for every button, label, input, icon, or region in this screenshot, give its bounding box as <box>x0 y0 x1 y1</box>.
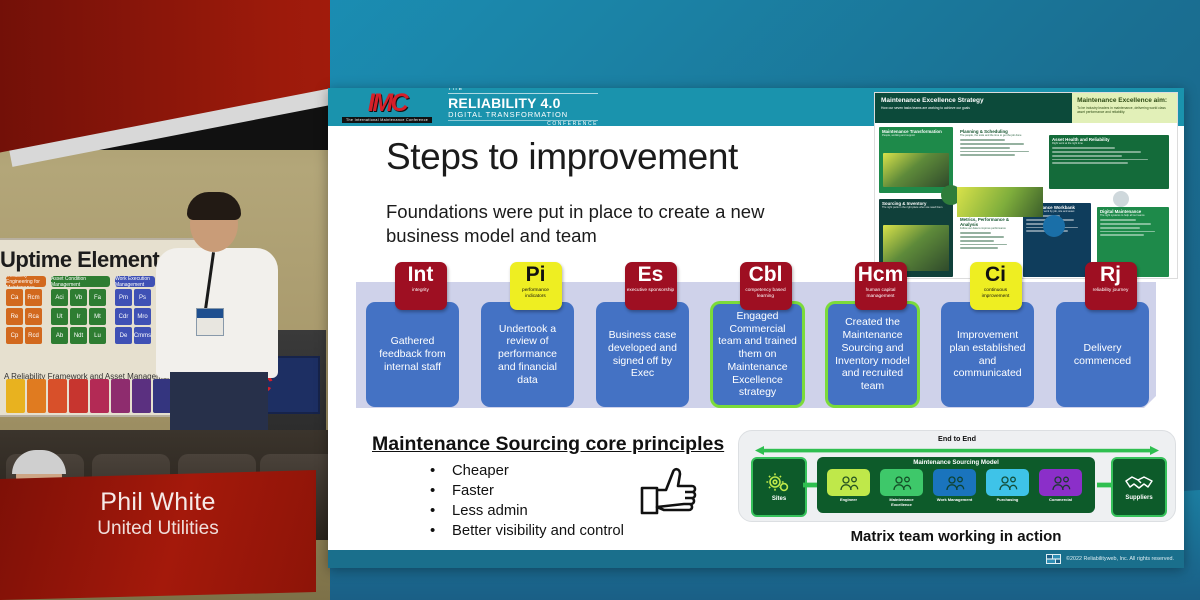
poster-element-cell: Ut <box>51 308 68 325</box>
model-role-label: Purchasing <box>986 498 1029 503</box>
poster-title: Uptime Elements <box>0 247 171 273</box>
conference-name: RELIABILITY 4.0 <box>448 96 598 110</box>
poster-element-cell: Mt <box>89 308 106 325</box>
collage-photo-circle <box>1043 215 1065 237</box>
step-card-text: Created the Maintenance Sourcing and Inv… <box>833 316 912 393</box>
people-icon <box>827 469 870 496</box>
poster-element-cell: Re <box>6 308 23 325</box>
conference-branding: THE RELIABILITY 4.0 DIGITAL TRANSFORMATI… <box>448 88 598 127</box>
element-abbreviation: Rj <box>1100 264 1121 285</box>
handshake-icon <box>1125 474 1153 492</box>
collage-tile-subtitle: Follow our data to improve performance <box>957 227 1019 230</box>
end-to-end-label: End to End <box>739 434 1175 443</box>
poster-element-cell: Ca <box>6 289 23 306</box>
collage-aim-text: To be industry leaders in maintenance, d… <box>1077 106 1172 114</box>
poster-element-cell: Rcm <box>25 289 42 306</box>
speaker-badge <box>196 308 224 336</box>
principle-item: Better visibility and control <box>406 522 624 542</box>
element-full-name: executive sponsorship <box>625 288 676 294</box>
slide-subtitle: Foundations were put in place to create … <box>386 200 816 247</box>
poster-element-cell: Rca <box>25 308 42 325</box>
principle-item: Less admin <box>406 502 624 522</box>
maintenance-excellence-strategy-poster: Maintenance Excellence Strategy How our … <box>874 92 1178 279</box>
collage-tile-subtitle: The right systems to help all our teams <box>1097 214 1169 217</box>
principle-item: Faster <box>406 482 624 502</box>
poster-element-cell: Rcd <box>25 327 42 344</box>
poster-lifecycle-cell <box>48 379 67 413</box>
poster-element-grid: Reliability Engineering for MaintenanceC… <box>6 276 181 344</box>
step-card[interactable]: Created the Maintenance Sourcing and Inv… <box>826 302 919 407</box>
element-abbreviation: Pi <box>526 264 546 285</box>
element-abbreviation: Cbl <box>749 264 783 285</box>
uptime-element-badge[interactable]: Esexecutive sponsorship <box>625 262 677 310</box>
uptime-element-badge[interactable]: Piperformance indicators <box>510 262 562 310</box>
collage-tile: Maintenance TransformationPeople, workin… <box>879 127 953 193</box>
step-card-text: Undertook a review of performance and fi… <box>488 323 567 387</box>
uptime-element-badge[interactable]: Intintegrity <box>395 262 447 310</box>
element-full-name: integrity <box>410 288 431 294</box>
model-role-label: Engineer <box>827 498 870 503</box>
step-card-text: Gathered feedback from internal staff <box>373 335 452 373</box>
element-full-name: competency based learning <box>740 288 792 299</box>
speaker-organization: United Utilities <box>0 518 316 540</box>
people-icon <box>933 469 976 496</box>
imc-logo: IMC The International Maintenance Confer… <box>342 91 432 123</box>
poster-lifecycle-cell <box>90 379 109 413</box>
poster-element-group: Reliability Engineering for MaintenanceC… <box>6 276 46 344</box>
end-to-end-arrow-icon <box>755 446 1159 455</box>
poster-element-cell: Pm <box>115 289 132 306</box>
collage-tile-photo <box>883 153 949 187</box>
conference-subtitle: DIGITAL TRANSFORMATION <box>448 111 598 119</box>
model-role[interactable]: Commercial <box>1039 469 1082 503</box>
collage-tile: Asset Health and ReliabilityRight work a… <box>1049 135 1169 189</box>
collage-tile-title: Digital Maintenance <box>1097 207 1169 214</box>
model-end-label: Suppliers <box>1125 495 1152 501</box>
model-role[interactable]: Maintenance Excellence <box>880 469 923 508</box>
collage-aim: Maintenance Excellence aim: To be indust… <box>1072 93 1177 123</box>
poster-element-cell: Vb <box>70 289 87 306</box>
poster-lifecycle-cell <box>69 379 88 413</box>
element-abbreviation: Int <box>408 264 434 285</box>
collage-header: Maintenance Excellence Strategy How our … <box>875 93 1177 123</box>
people-icon <box>880 469 923 496</box>
poster-lifecycle-cell <box>132 379 151 413</box>
step-card[interactable]: Business case developed and signed off b… <box>596 302 689 407</box>
element-full-name: reliability journey <box>1091 288 1131 294</box>
poster-element-group: Asset Condition ManagementAciVbFaUtIrMtA… <box>51 276 110 344</box>
element-full-name: continuous improvement <box>970 288 1022 299</box>
speaker-name: Phil White <box>0 488 316 517</box>
element-abbreviation: Es <box>638 264 664 285</box>
uptime-element-badge[interactable]: Hcmhuman capital management <box>855 262 907 310</box>
maintenance-sourcing-model-diagram: End to End Sites Maintenance Sourcing Mo… <box>738 430 1176 522</box>
copyright-text: ©2022 Reliabilityweb, Inc. All rights re… <box>1066 556 1174 562</box>
poster-element-cell: Ir <box>70 308 87 325</box>
poster-element-cell: De <box>115 327 132 344</box>
uptime-element-badge[interactable]: Cicontinuous improvement <box>970 262 1022 310</box>
element-full-name: performance indicators <box>510 288 562 299</box>
element-abbreviation: Hcm <box>858 264 904 285</box>
step-card[interactable]: Engaged Commercial team and trained them… <box>711 302 804 407</box>
model-role-label: Commercial <box>1039 498 1082 503</box>
slide-title: Steps to improvement <box>386 136 738 178</box>
model-role[interactable]: Engineer <box>827 469 870 503</box>
matrix-caption: Matrix team working in action <box>738 528 1174 545</box>
collage-tile-lines <box>1049 145 1169 168</box>
poster-element-group: Work Execution ManagementPmPsCdrMroDeCmm… <box>115 276 155 344</box>
step-card-text: Business case developed and signed off b… <box>603 329 682 380</box>
collage-tile-title: Maintenance Transformation <box>879 127 953 134</box>
collage-tile-lines <box>957 137 1045 160</box>
collage-photo-circle <box>1113 191 1129 207</box>
poster-element-cell: Fa <box>89 289 106 306</box>
poster-element-cell: Cdr <box>115 308 132 325</box>
principles-list: CheaperFasterLess adminBetter visibility… <box>406 462 624 542</box>
model-start-sites: Sites <box>751 457 807 517</box>
poster-group-header: Work Execution Management <box>115 276 155 287</box>
model-end-suppliers: Suppliers <box>1111 457 1167 517</box>
model-role-label: Work Management <box>933 498 976 503</box>
msm-title: Maintenance Sourcing Model <box>817 459 1095 466</box>
poster-lifecycle-cell <box>111 379 130 413</box>
collage-tile-subtitle: People, working and support <box>879 134 953 137</box>
collage-tile-title: Asset Health and Reliability <box>1049 135 1169 142</box>
poster-lifecycle-cell <box>27 379 46 413</box>
collage-tile-subtitle: Right work at the right time <box>1049 142 1169 145</box>
principle-item: Cheaper <box>406 462 624 482</box>
uptime-element-badge[interactable]: Rjreliability journey <box>1085 262 1137 310</box>
poster-element-cell: Aci <box>51 289 68 306</box>
collage-aim-title: Maintenance Excellence aim: <box>1077 97 1172 104</box>
step-card[interactable]: Delivery commenced <box>1056 302 1149 407</box>
speaker-hair <box>187 192 241 220</box>
model-role[interactable]: Work Management <box>933 469 976 503</box>
collage-tile-lines <box>957 230 1019 253</box>
conference-the: THE <box>448 88 598 94</box>
gears-icon <box>766 473 792 493</box>
element-full-name: human capital management <box>855 288 907 299</box>
model-start-label: Sites <box>772 496 786 502</box>
uptime-element-badge[interactable]: Cblcompetency based learning <box>740 262 792 310</box>
collage-group-photo <box>957 187 1043 217</box>
collage-header-main: Maintenance Excellence Strategy How our … <box>875 93 1072 123</box>
poster-element-cell: Mro <box>134 308 151 325</box>
collage-tile-title: Planning & Scheduling <box>957 127 1045 134</box>
collage-tile-subtitle: The right parts in the right place when … <box>879 206 953 209</box>
model-role-label: Maintenance Excellence <box>880 498 923 508</box>
conference-word: CONFERENCE <box>448 120 598 127</box>
poster-element-cell: Cmms <box>134 327 151 344</box>
poster-group-header: Reliability Engineering for Maintenance <box>6 276 46 287</box>
collage-tiles: Maintenance TransformationPeople, workin… <box>875 123 1177 278</box>
imc-wordmark: IMC <box>368 91 406 116</box>
collage-tile-lines <box>1097 217 1169 240</box>
step-card[interactable]: Undertook a review of performance and fi… <box>481 302 574 407</box>
poster-element-cell: Lu <box>89 327 106 344</box>
poster-group-header: Asset Condition Management <box>51 276 110 287</box>
poster-element-cell: Ps <box>134 289 151 306</box>
presentation-slide[interactable]: IMC The International Maintenance Confer… <box>328 88 1184 568</box>
thumbs-up-icon <box>640 466 698 516</box>
poster-element-cell: Cp <box>6 327 23 344</box>
principles-title: Maintenance Sourcing core principles <box>372 433 724 456</box>
people-icon <box>1039 469 1082 496</box>
step-card-text: Delivery commenced <box>1063 342 1142 368</box>
slide-footer: ©2022 Reliabilityweb, Inc. All rights re… <box>328 550 1184 568</box>
step-card[interactable]: Improvement plan established and communi… <box>941 302 1034 407</box>
poster-element-cell: Ndt <box>70 327 87 344</box>
collage-header-subtitle: How our seven tasks teams are working to… <box>881 106 1066 110</box>
step-card[interactable]: Gathered feedback from internal staff <box>366 302 459 407</box>
collage-tile-subtitle: The people, the tools and the time to ge… <box>957 134 1045 137</box>
poster-element-cell: Ab <box>51 327 68 344</box>
reliabilityweb-logo-icon <box>1046 554 1061 564</box>
element-abbreviation: Ci <box>985 264 1006 285</box>
speaker-figure <box>160 196 278 436</box>
imc-tagline: The International Maintenance Conference <box>342 117 432 123</box>
people-icon <box>986 469 1029 496</box>
poster-lifecycle-cell <box>6 379 25 413</box>
collage-header-title: Maintenance Excellence Strategy <box>881 97 1066 104</box>
collage-tile: Planning & SchedulingThe people, the too… <box>957 127 1045 189</box>
step-card-text: Engaged Commercial team and trained them… <box>718 310 797 400</box>
model-role[interactable]: Purchasing <box>986 469 1029 503</box>
step-card-text: Improvement plan established and communi… <box>948 329 1027 380</box>
maintenance-sourcing-model-box: Maintenance Sourcing Model EngineerMaint… <box>817 457 1095 513</box>
